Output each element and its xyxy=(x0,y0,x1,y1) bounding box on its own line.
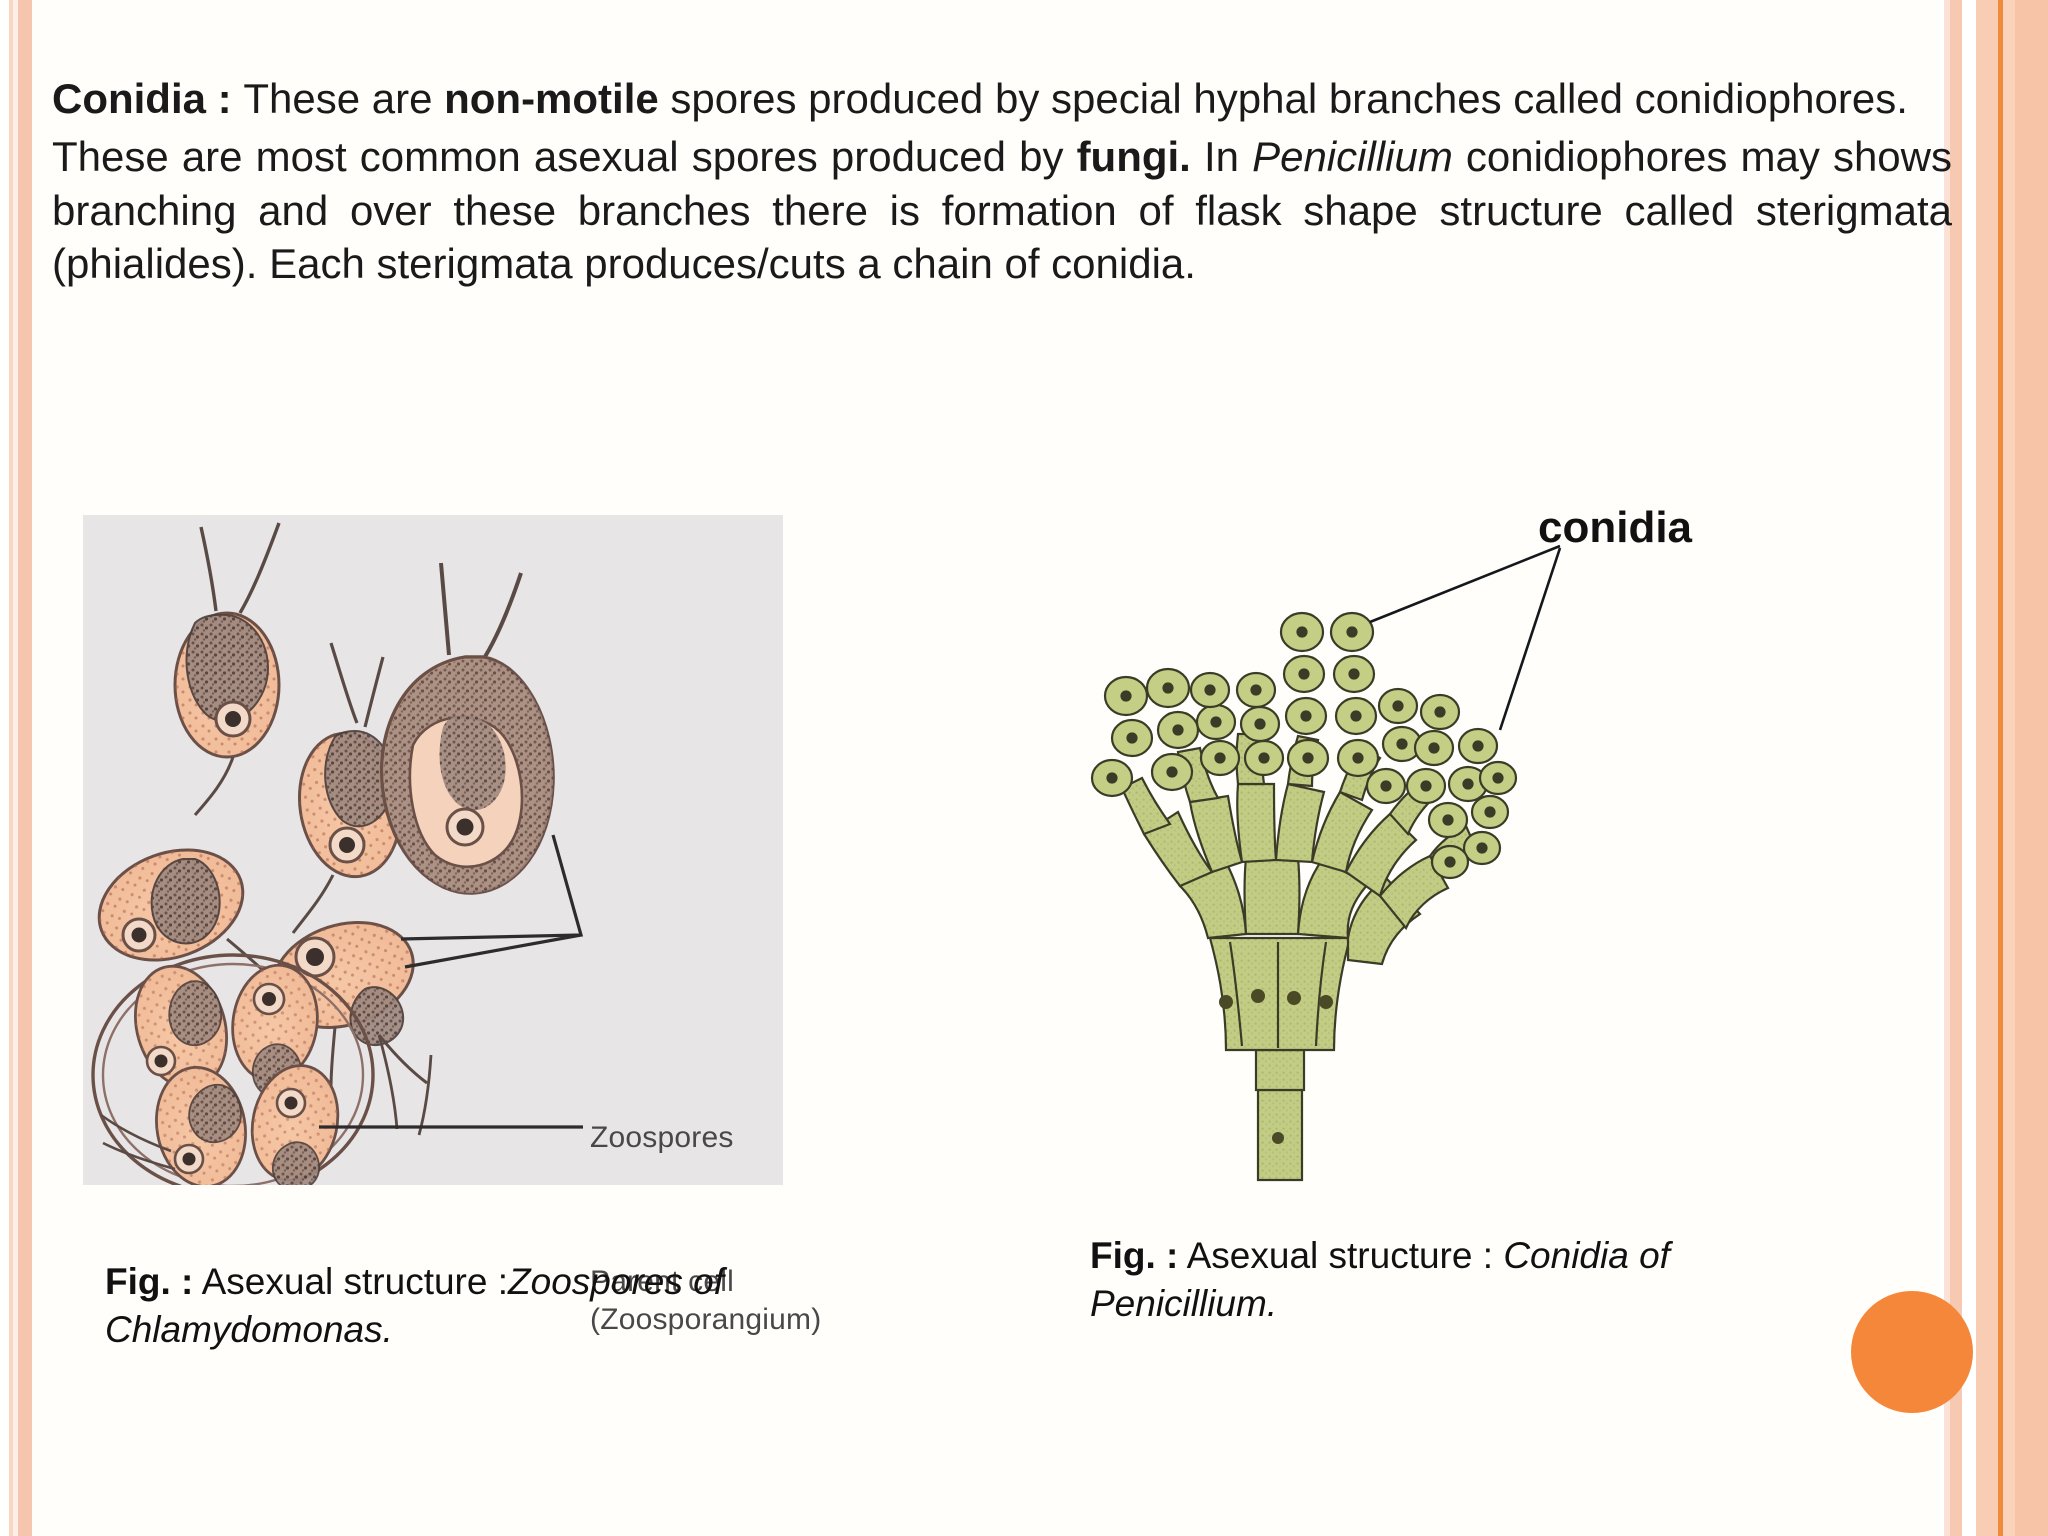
paragraph-conidia: Conidia : These are non-motile spores pr… xyxy=(52,72,1952,126)
label-zoospores: Zoospores xyxy=(590,1120,734,1157)
p1-part2: spores produced by special hyphal branch… xyxy=(659,75,1908,122)
caption-right-normal: Asexual structure : xyxy=(1178,1235,1503,1276)
p1-part1: These are xyxy=(243,75,444,122)
caption-left-fig-label: Fig. : xyxy=(105,1261,193,1302)
orange-accent-circle xyxy=(1851,1291,1973,1413)
caption-penicillium: Fig. : Asexual structure : Conidia of Pe… xyxy=(1090,1232,1810,1328)
label-conidia: conidia xyxy=(1538,503,1692,553)
p2-part1: These are most common asexual spores pro… xyxy=(52,133,1077,180)
p2-part2: In xyxy=(1191,133,1252,180)
body-text: Conidia : These are non-motile spores pr… xyxy=(52,72,1952,295)
slide-canvas: Conidia : These are non-motile spores pr… xyxy=(0,0,2048,1536)
penicillium-illustration xyxy=(1030,490,1730,1190)
caption-left-normal: Asexual structure : xyxy=(193,1261,508,1302)
term-conidia: Conidia : xyxy=(52,75,243,122)
caption-right-fig-label: Fig. : xyxy=(1090,1235,1178,1276)
left-decorative-border xyxy=(0,0,40,1536)
figure-chlamydomonas: Zoospores Parent cell (Zoosporangium) xyxy=(83,515,783,1185)
term-non-motile: non-motile xyxy=(444,75,659,122)
figure-penicillium: conidia xyxy=(1030,490,1730,1190)
right-decorative-border xyxy=(1938,0,2048,1536)
chlamydomonas-illustration xyxy=(83,515,783,1185)
term-fungi: fungi. xyxy=(1077,133,1191,180)
term-penicillium: Penicillium xyxy=(1252,133,1453,180)
paragraph-fungi: These are most common asexual spores pro… xyxy=(52,130,1952,291)
caption-chlamydomonas: Fig. : Asexual structure :Zoospores of C… xyxy=(105,1258,805,1354)
